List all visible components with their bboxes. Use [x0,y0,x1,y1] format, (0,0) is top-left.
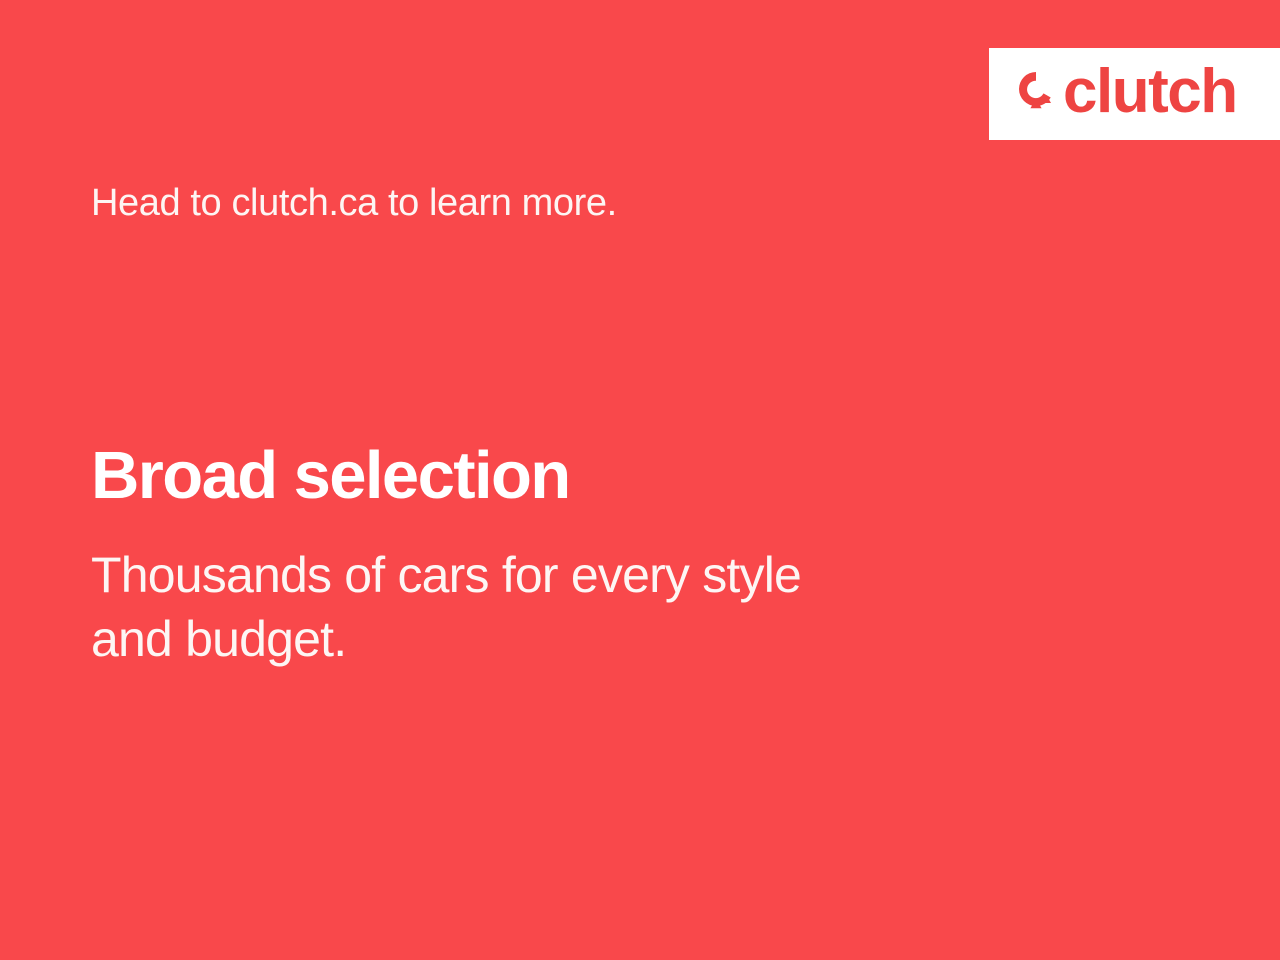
subhead-line: and budget. [91,607,801,671]
subhead-text: Thousands of cars for every style and bu… [91,543,801,671]
brand-logo-plate: clutch [989,48,1280,140]
clutch-c-mark-icon [1013,66,1059,122]
brand-logo-lockup[interactable]: clutch [1013,48,1237,140]
brand-wordmark: clutch [1063,61,1237,123]
promo-slide: clutch Head to clutch.ca to learn more. … [0,0,1280,960]
subhead-line: Thousands of cars for every style [91,543,801,607]
page-title: Broad selection [91,440,570,512]
eyebrow-text: Head to clutch.ca to learn more. [91,182,617,226]
